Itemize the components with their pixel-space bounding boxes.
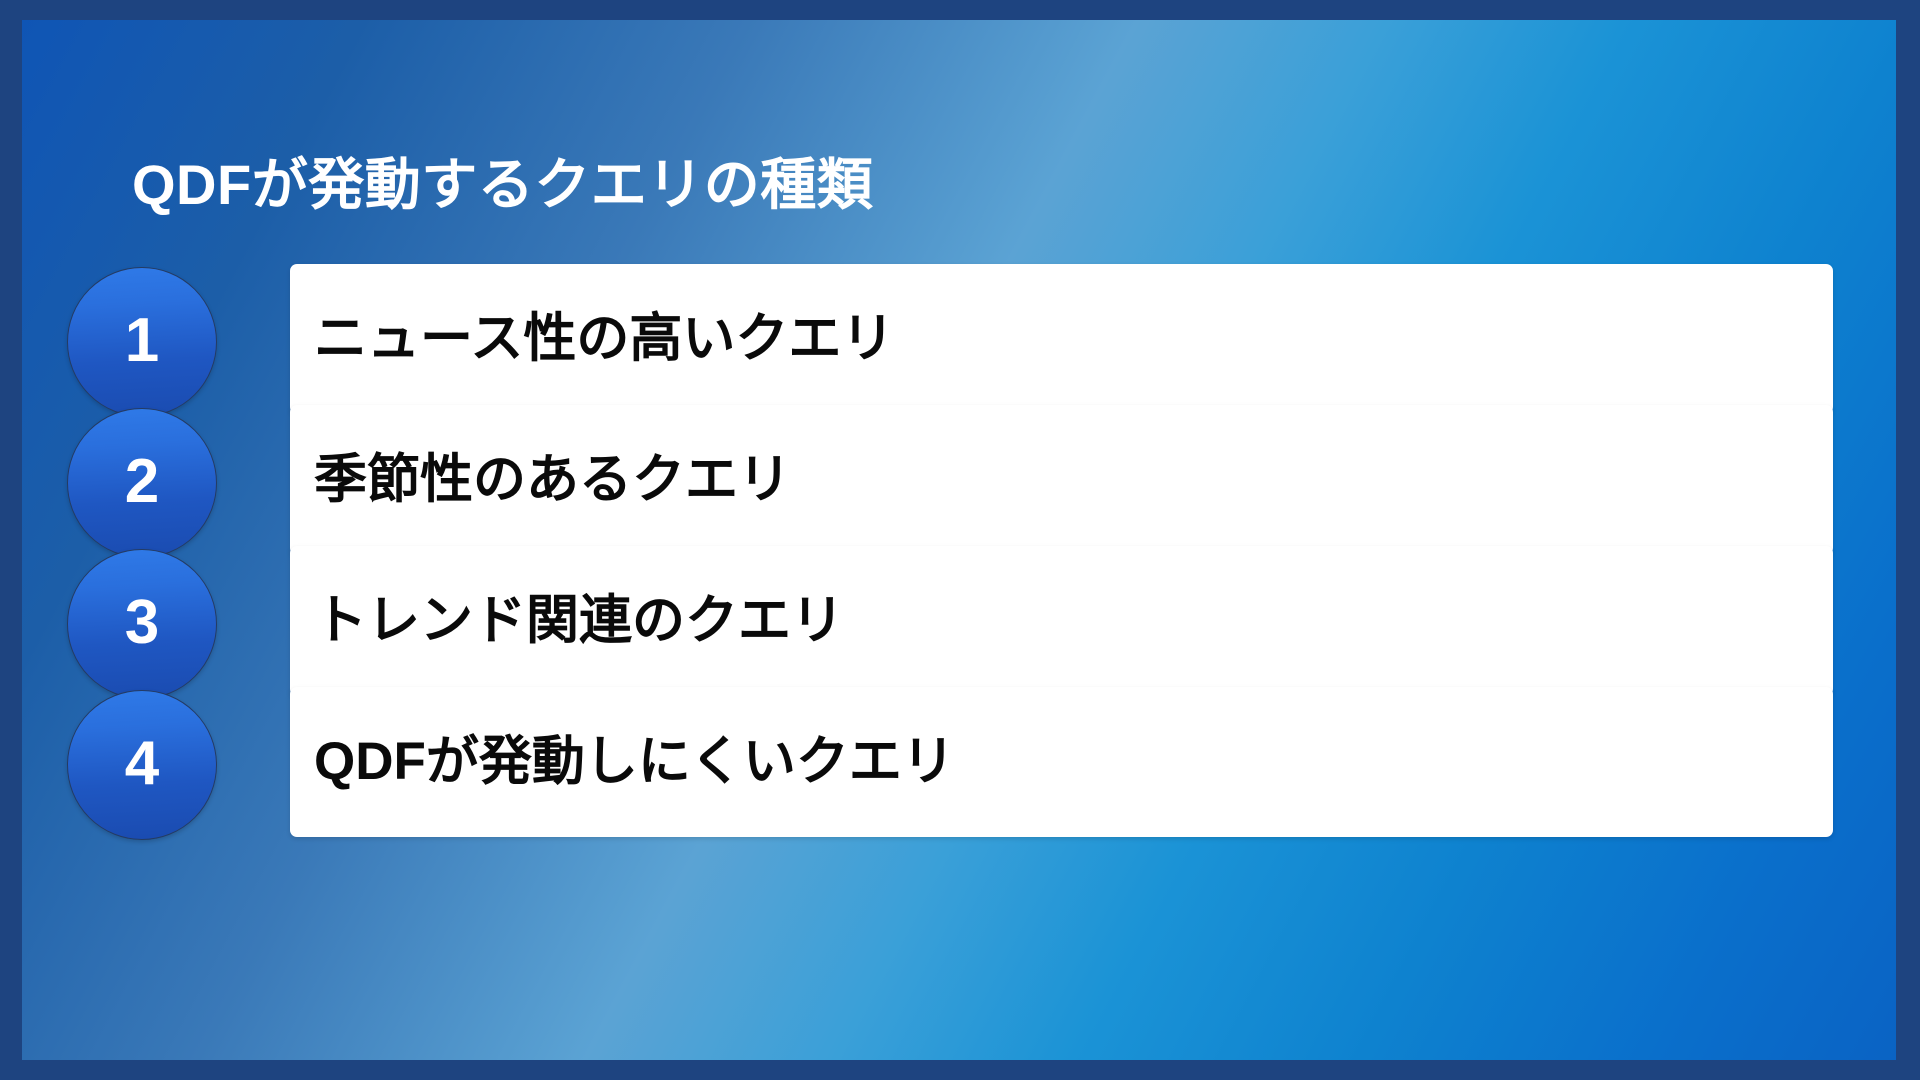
item-card-label: ニュース性の高いクエリ [290,309,894,370]
item-card-label: トレンド関連のクエリ [290,591,844,652]
slide-background-panel: QDFが発動するクエリの種類 1 ニュース性の高いクエリ 2 季節性のあるクエリ [22,20,1896,1060]
item-number-badge: 4 [67,690,217,840]
item-number-badge: 2 [67,408,217,558]
item-number-badge: 3 [67,549,217,699]
item-card[interactable]: トレンド関連のクエリ [290,546,1833,696]
item-number-label: 4 [125,733,159,795]
item-number-label: 3 [125,592,159,654]
item-list: 1 ニュース性の高いクエリ 2 季節性のあるクエリ 3 トレ [22,20,1896,1060]
item-number-label: 2 [125,451,159,513]
list-item[interactable]: 4 QDFが発動しにくいクエリ [22,687,1896,833]
item-card[interactable]: ニュース性の高いクエリ [290,264,1833,414]
item-number-badge: 1 [67,267,217,417]
list-item[interactable]: 3 トレンド関連のクエリ [22,546,1896,692]
item-card-label: QDFが発動しにくいクエリ [290,732,955,793]
item-card[interactable]: 季節性のあるクエリ [290,405,1833,555]
item-card[interactable]: QDFが発動しにくいクエリ [290,687,1833,837]
list-item[interactable]: 2 季節性のあるクエリ [22,405,1896,551]
slide: QDFが発動するクエリの種類 1 ニュース性の高いクエリ 2 季節性のあるクエリ [0,0,1920,1080]
item-card-label: 季節性のあるクエリ [290,450,791,511]
item-number-label: 1 [125,310,159,372]
list-item[interactable]: 1 ニュース性の高いクエリ [22,264,1896,410]
